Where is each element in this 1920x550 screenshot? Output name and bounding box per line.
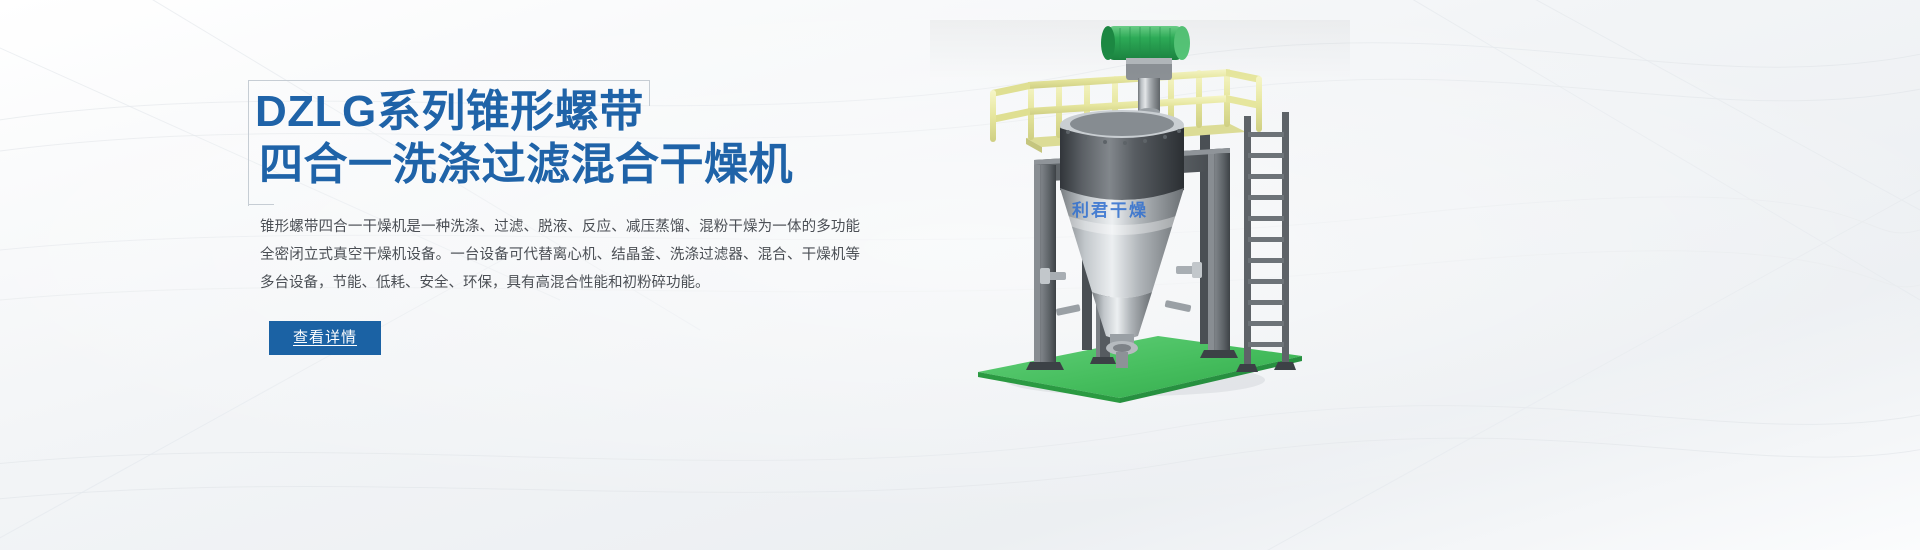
product-description: 锥形螺带四合一干燥机是一种洗涤、过滤、脱液、反应、减压蒸馏、混粉干燥为一体的多功… bbox=[260, 213, 860, 297]
view-details-label: 查看详情 bbox=[293, 329, 357, 346]
access-ladder bbox=[1236, 112, 1296, 372]
hero-copy: DZLG系列锥形螺带 四合一洗涤过滤混合干燥机 锥形螺带四合一干燥机是一种洗涤、… bbox=[255, 85, 895, 355]
page-title: DZLG系列锥形螺带 四合一洗涤过滤混合干燥机 bbox=[255, 85, 895, 191]
vessel-body bbox=[1060, 110, 1184, 200]
title-line-1: DZLG系列锥形螺带 bbox=[255, 85, 895, 138]
product-illustration bbox=[930, 20, 1350, 420]
title-line-2: 四合一洗涤过滤混合干燥机 bbox=[255, 138, 895, 191]
view-details-button[interactable]: 查看详情 bbox=[269, 321, 381, 355]
hero-banner: DZLG系列锥形螺带 四合一洗涤过滤混合干燥机 锥形螺带四合一干燥机是一种洗涤、… bbox=[0, 0, 1920, 550]
